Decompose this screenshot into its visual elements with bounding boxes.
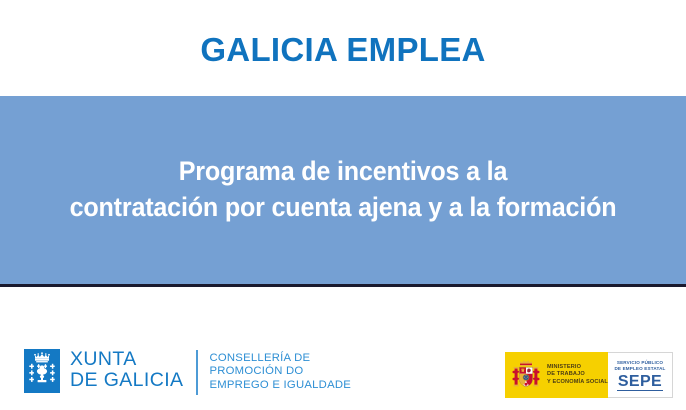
sepe-full-name-line-2: DE EMPLEO ESTATAL <box>614 366 665 372</box>
program-banner-text: Programa de incentivos a la contratación… <box>36 154 650 225</box>
xunta-de-galicia-logo: XUNTA DE GALICIA CONSELLERÍA DE PROMOCIÓ… <box>24 348 351 395</box>
sepe-acronym: SEPE <box>617 372 663 391</box>
footer-logos: XUNTA DE GALICIA CONSELLERÍA DE PROMOCIÓ… <box>0 289 686 410</box>
ministerio-line-1: MINISTERIO <box>547 364 608 371</box>
ministerio-line-2: DE TRABAJO <box>547 371 608 378</box>
conselleria-line-3: EMPREGO E IGUALDADE <box>209 379 351 392</box>
government-logos: MINISTERIO DE TRABAJO Y ECONOMÍA SOCIAL … <box>505 352 673 398</box>
ministerio-line-3: Y ECONOMÍA SOCIAL <box>547 379 608 386</box>
program-banner-line-1: Programa de incentivos a la <box>36 154 650 190</box>
xunta-wordmark-line-1: XUNTA <box>70 349 183 370</box>
sepe-full-name-line-1: SERVICIO PÚBLICO <box>614 360 665 366</box>
xunta-wordmark: XUNTA DE GALICIA <box>70 348 183 391</box>
xunta-wordmark-line-2: DE GALICIA <box>70 370 183 391</box>
sepe-logo: SERVICIO PÚBLICO DE EMPLEO ESTATAL SEPE <box>608 352 673 398</box>
conselleria-line-2: PROMOCIÓN DO <box>209 365 351 378</box>
page-title: GALICIA EMPLEA <box>200 33 485 66</box>
conselleria-text: CONSELLERÍA DE PROMOCIÓN DO EMPREGO E IG… <box>209 348 351 392</box>
ministerio-wordmark: MINISTERIO DE TRABAJO Y ECONOMÍA SOCIAL <box>547 364 608 386</box>
xunta-coat-of-arms-chalice-icon <box>24 349 60 393</box>
page-header: GALICIA EMPLEA <box>0 0 686 96</box>
program-banner: Programa de incentivos a la contratación… <box>0 96 686 287</box>
ministerio-de-trabajo-logo: MINISTERIO DE TRABAJO Y ECONOMÍA SOCIAL <box>505 352 608 398</box>
spain-coat-of-arms-icon <box>509 358 543 392</box>
logo-divider <box>196 350 198 395</box>
sepe-full-name: SERVICIO PÚBLICO DE EMPLEO ESTATAL <box>614 360 665 371</box>
conselleria-line-1: CONSELLERÍA DE <box>209 352 351 365</box>
program-banner-line-2: contratación por cuenta ajena y a la for… <box>36 190 650 226</box>
